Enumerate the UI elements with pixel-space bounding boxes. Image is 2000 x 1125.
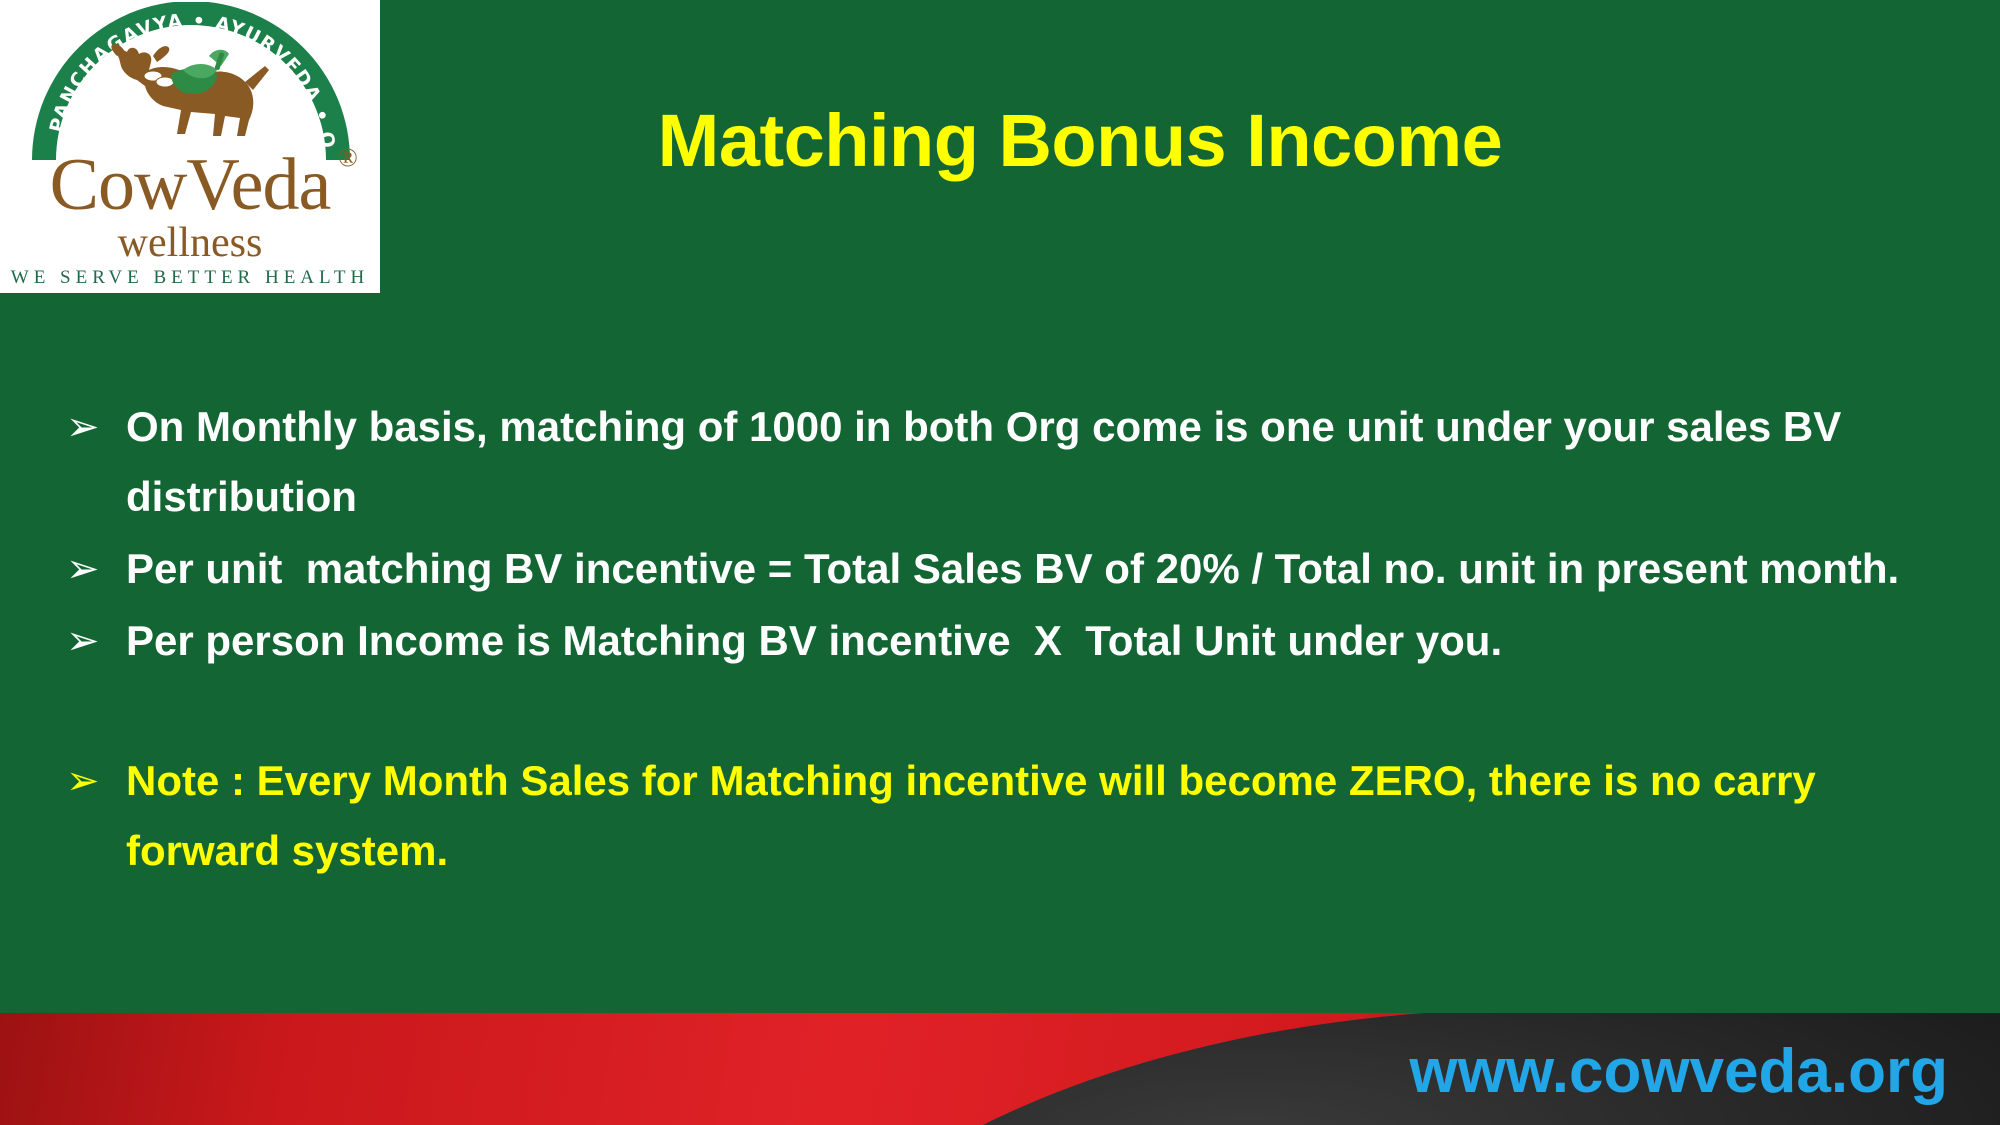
- list-item: ➢ On Monthly basis, matching of 1000 in …: [58, 392, 1958, 532]
- company-logo: PANCHAGAVYA • AYURVEDA • ORGANIC: [0, 0, 380, 293]
- bullet-list: ➢ On Monthly basis, matching of 1000 in …: [58, 392, 1958, 888]
- logo-tagline: WE SERVE BETTER HEALTH: [0, 268, 380, 287]
- list-item-text: Per person Income is Matching BV incenti…: [126, 606, 1916, 676]
- arrow-bullet-icon: ➢: [58, 746, 126, 816]
- list-item-text: Note : Every Month Sales for Matching in…: [126, 746, 1916, 886]
- list-spacer: [58, 678, 1958, 746]
- footer-banner: www.cowveda.org: [0, 1013, 2000, 1125]
- registered-trademark-icon: ®: [338, 143, 358, 173]
- list-item-text: Per unit matching BV incentive = Total S…: [126, 534, 1916, 604]
- slide: PANCHAGAVYA • AYURVEDA • ORGANIC: [0, 0, 2000, 1125]
- arrow-bullet-icon: ➢: [58, 606, 126, 676]
- list-item: ➢ Per unit matching BV incentive = Total…: [58, 534, 1958, 604]
- website-url[interactable]: www.cowveda.org: [1409, 1037, 1948, 1107]
- slide-title: Matching Bonus Income: [380, 98, 1780, 184]
- cow-icon: [105, 36, 280, 148]
- list-item: ➢ Per person Income is Matching BV incen…: [58, 606, 1958, 676]
- list-item-text: On Monthly basis, matching of 1000 in bo…: [126, 392, 1916, 532]
- arrow-bullet-icon: ➢: [58, 534, 126, 604]
- logo-wordmark: CowVeda: [0, 148, 380, 222]
- logo-subtitle: wellness: [0, 222, 380, 264]
- arrow-bullet-icon: ➢: [58, 392, 126, 462]
- list-item-note: ➢ Note : Every Month Sales for Matching …: [58, 746, 1958, 886]
